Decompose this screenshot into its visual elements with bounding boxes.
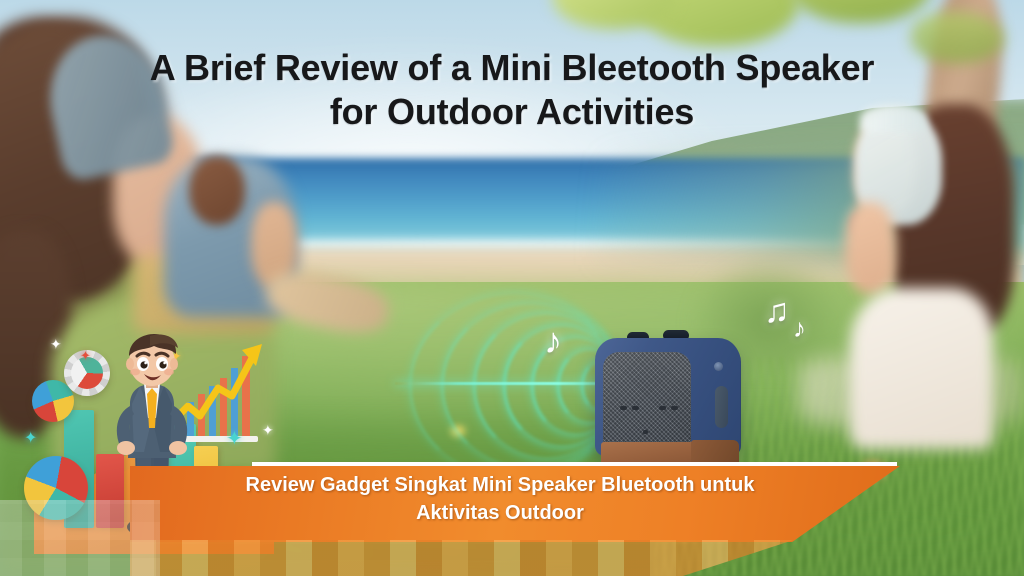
music-note-1: ♪ xyxy=(544,320,562,362)
speaker-grille-hole-4 xyxy=(671,406,678,410)
woman-headphones-right-top xyxy=(850,288,993,449)
speaker-side-button[interactable] xyxy=(715,386,728,428)
title-line-1: A Brief Review of a Mini Bleetooth Speak… xyxy=(0,46,1024,90)
page-title: A Brief Review of a Mini Bleetooth Speak… xyxy=(0,46,1024,134)
mascot-ear-left xyxy=(126,358,134,370)
mascot-ear-right xyxy=(170,358,178,370)
bottom-left-mosaic xyxy=(0,500,160,576)
banner-top-rule xyxy=(252,462,897,466)
speaker-grille-hole-2 xyxy=(632,406,639,410)
speaker-grille-hole-1 xyxy=(620,406,627,410)
sparkle-white-1: ✦ xyxy=(50,336,62,353)
mascot-eye-glint-right xyxy=(163,362,166,365)
mascot-eye-glint-left xyxy=(144,362,147,365)
banner-mosaic-strip xyxy=(130,540,920,576)
mascot-cheek-right xyxy=(164,369,174,376)
woman-headphones-right-arm xyxy=(845,202,896,294)
mascot-cheek-left xyxy=(130,369,140,376)
sparkle-teal: ✦ xyxy=(226,426,243,451)
banner-caption-line-2: Aktivitas Outdoor xyxy=(150,500,850,528)
thumbnail-canvas: A Brief Review of a Mini Bleetooth Speak… xyxy=(0,0,1024,576)
speaker-grille-hole-5 xyxy=(643,430,648,434)
seated-person-head xyxy=(189,156,244,225)
title-line-2: for Outdoor Activities xyxy=(0,90,1024,134)
sparkle-teal-2: ✦ xyxy=(24,428,37,448)
music-note-3: ♪ xyxy=(793,313,806,344)
sound-wave-baseline xyxy=(395,382,609,385)
sparkle-red: ✦ xyxy=(80,348,91,364)
speaker-grille-hole-3 xyxy=(659,406,666,410)
sparkle-white-2: ✦ xyxy=(262,422,274,439)
banner-caption: Review Gadget Singkat Mini Speaker Bluet… xyxy=(150,472,850,527)
speaker-led-indicator xyxy=(714,362,723,371)
banner-caption-line-1: Review Gadget Singkat Mini Speaker Bluet… xyxy=(150,472,850,500)
music-note-2: ♫ xyxy=(764,292,790,331)
